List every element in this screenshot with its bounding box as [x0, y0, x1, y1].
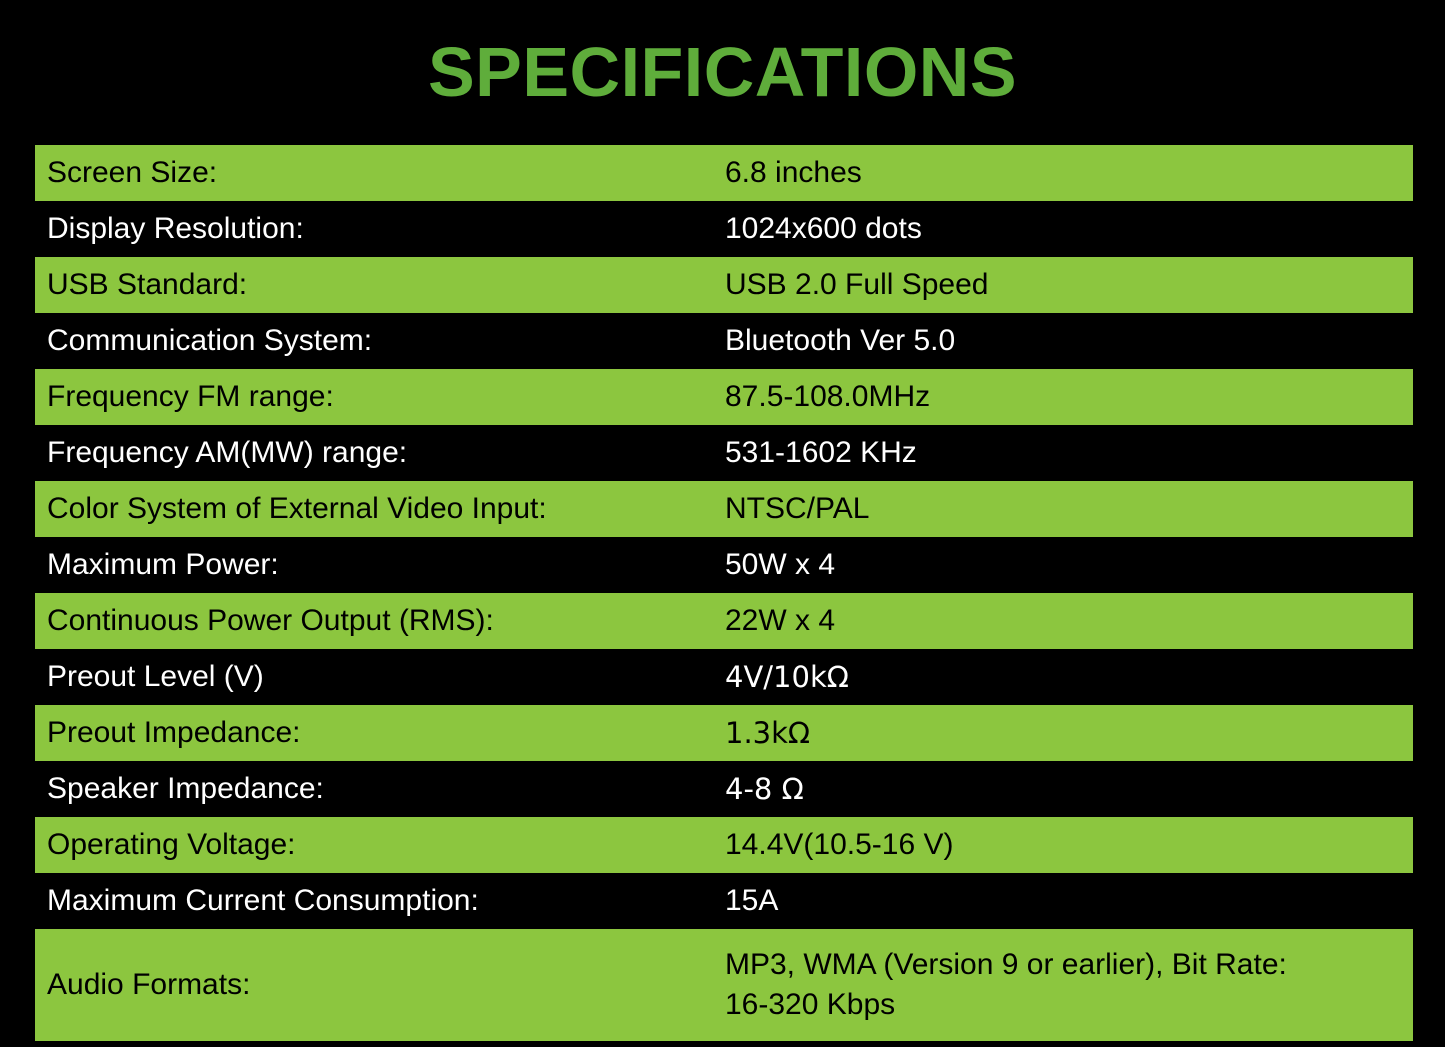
spec-value: 1.3kΩ [725, 714, 1413, 753]
spec-value: 4-8 Ω [725, 770, 1413, 809]
table-row: Frequency AM(MW) range:531-1602 KHz [35, 425, 1413, 481]
table-row: Display Resolution:1024x600 dots [35, 201, 1413, 257]
spec-label: Maximum Power: [35, 545, 725, 585]
spec-value: 4V/10kΩ [725, 658, 1413, 697]
spec-label: Color System of External Video Input: [35, 489, 725, 529]
spec-value: 6.8 inches [725, 153, 1413, 193]
spec-value: USB 2.0 Full Speed [725, 265, 1413, 305]
spec-label: Screen Size: [35, 153, 725, 193]
spec-value: Bluetooth Ver 5.0 [725, 321, 1413, 361]
table-row: Maximum Power:50W x 4 [35, 537, 1413, 593]
spec-value: MP3, WMA (Version 9 or earlier), Bit Rat… [725, 945, 1413, 1025]
table-row: Audio Formats:MP3, WMA (Version 9 or ear… [35, 929, 1413, 1041]
table-row: Preout Impedance:1.3kΩ [35, 705, 1413, 761]
spec-label: Operating Voltage: [35, 825, 725, 865]
table-row: USB Standard:USB 2.0 Full Speed [35, 257, 1413, 313]
spec-label: Frequency FM range: [35, 377, 725, 417]
spec-value: 531-1602 KHz [725, 433, 1413, 473]
spec-label: Speaker Impedance: [35, 769, 725, 809]
table-row: Frequency FM range:87.5-108.0MHz [35, 369, 1413, 425]
table-row: Preout Level (V)4V/10kΩ [35, 649, 1413, 705]
spec-label: USB Standard: [35, 265, 725, 305]
table-row: Continuous Power Output (RMS):22W x 4 [35, 593, 1413, 649]
table-row: Communication System:Bluetooth Ver 5.0 [35, 313, 1413, 369]
spec-value: NTSC/PAL [725, 489, 1413, 529]
table-row: Operating Voltage:14.4V(10.5-16 V) [35, 817, 1413, 873]
table-row: Speaker Impedance:4-8 Ω [35, 761, 1413, 817]
spec-value: 50W x 4 [725, 545, 1413, 585]
spec-label: Preout Impedance: [35, 713, 725, 753]
specifications-table: Screen Size:6.8 inchesDisplay Resolution… [35, 145, 1413, 1041]
spec-value: 15A [725, 881, 1413, 921]
spec-value: 1024x600 dots [725, 209, 1413, 249]
spec-label: Maximum Current Consumption: [35, 881, 725, 921]
spec-label: Communication System: [35, 321, 725, 361]
specifications-page: SPECIFICATIONS Screen Size:6.8 inchesDis… [0, 0, 1445, 1047]
spec-value: 22W x 4 [725, 601, 1413, 641]
spec-label: Display Resolution: [35, 209, 725, 249]
page-title: SPECIFICATIONS [428, 37, 1017, 107]
table-row: Color System of External Video Input:NTS… [35, 481, 1413, 537]
spec-label: Audio Formats: [35, 965, 725, 1005]
table-row: Screen Size:6.8 inches [35, 145, 1413, 201]
spec-value: 14.4V(10.5-16 V) [725, 825, 1413, 865]
spec-label: Continuous Power Output (RMS): [35, 601, 725, 641]
spec-value: 87.5-108.0MHz [725, 377, 1413, 417]
page-title-container: SPECIFICATIONS [0, 24, 1445, 120]
table-row: Maximum Current Consumption:15A [35, 873, 1413, 929]
spec-label: Frequency AM(MW) range: [35, 433, 725, 473]
spec-label: Preout Level (V) [35, 657, 725, 697]
